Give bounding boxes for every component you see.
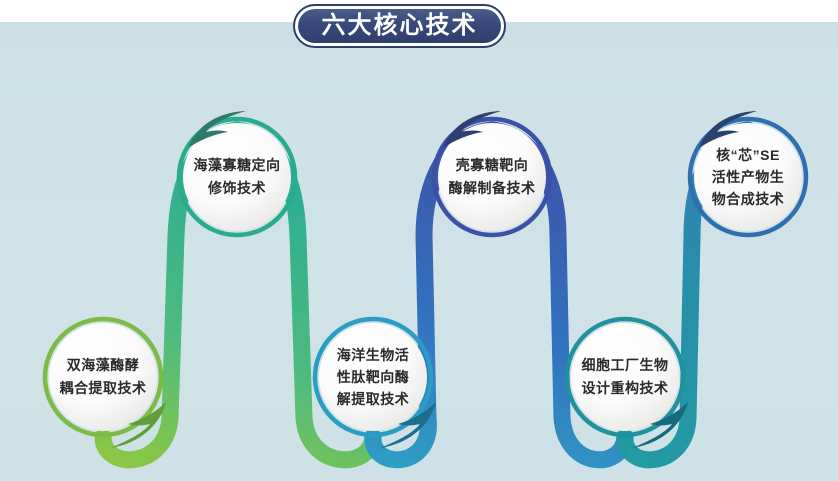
page-title-pill: 六大核心技术 (293, 4, 506, 48)
node-1-double-seaweed-enzyme[interactable]: 双海藻酶酵 耦合提取技术 (43, 317, 163, 437)
node-5-label: 细胞工厂生物 设计重构技术 (578, 354, 673, 400)
node-2-label: 海藻寡糖定向 修饰技术 (190, 154, 285, 200)
node-6-core-se-biosynthesis[interactable]: 核“芯”SE 活性产物生 物合成技术 (688, 117, 808, 237)
node-2-oligosaccharide-modification[interactable]: 海藻寡糖定向 修饰技术 (177, 117, 297, 237)
page-title-pill-inner: 六大核心技术 (298, 9, 501, 43)
node-3-marine-peptide-extraction[interactable]: 海洋生物活 性肽靶向酶 解提取技术 (313, 317, 433, 437)
node-5-cell-factory-redesign[interactable]: 细胞工厂生物 设计重构技术 (565, 317, 685, 437)
diagram-canvas: 六大核心技术 双海藻酶酵 耦合提取技术 海藻寡糖定向 修饰技术 海洋生物活 性肽… (0, 0, 838, 481)
page-title: 六大核心技术 (322, 14, 478, 38)
node-4-chitosan-oligosaccharide[interactable]: 壳寡糖靶向 酶解制备技术 (432, 117, 552, 237)
node-3-label: 海洋生物活 性肽靶向酶 解提取技术 (333, 344, 414, 410)
node-1-label: 双海藻酶酵 耦合提取技术 (56, 354, 151, 400)
node-6-label: 核“芯”SE 活性产物生 物合成技术 (708, 144, 789, 210)
node-4-label: 壳寡糖靶向 酶解制备技术 (445, 154, 540, 200)
